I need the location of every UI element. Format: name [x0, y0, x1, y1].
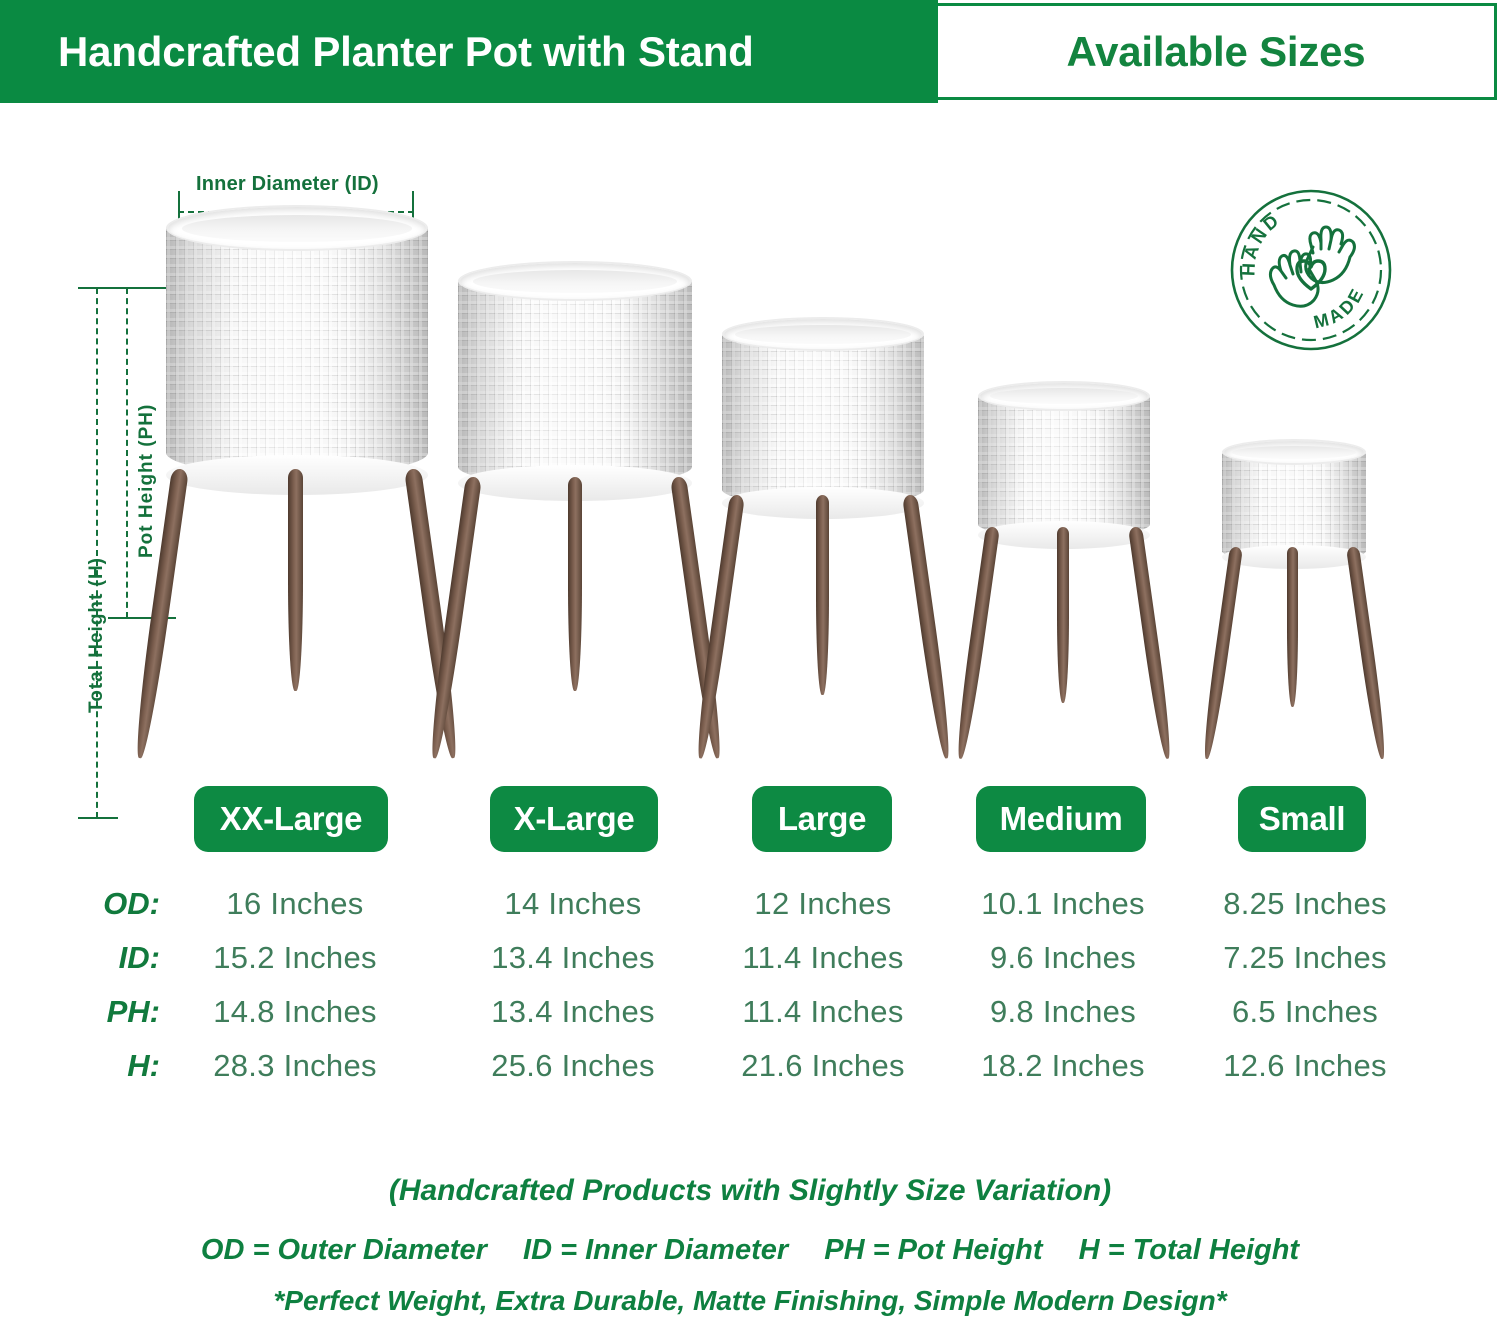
cell-ph-large: 11.4 Inches [718, 994, 928, 1030]
cell-ph-medium: 9.8 Inches [958, 994, 1168, 1030]
pot-rim [458, 261, 692, 301]
infographic-page: Handcrafted Planter Pot with Stand Avail… [0, 0, 1500, 1328]
legend-od: OD = Outer Diameter [187, 1234, 501, 1266]
stand-leg [1200, 546, 1243, 760]
pot-rim [1222, 439, 1366, 465]
total-height-label: Total Height (H) [86, 557, 108, 713]
table-row: OD: 16 Inches 14 Inches 12 Inches 10.1 I… [0, 886, 1500, 940]
size-pill-label: Large [778, 800, 866, 838]
cell-h-large: 21.6 Inches [718, 1048, 928, 1084]
pot-shading [458, 279, 692, 485]
dimensions-table: OD: 16 Inches 14 Inches 12 Inches 10.1 I… [0, 886, 1500, 1102]
table-row: PH: 14.8 Inches 13.4 Inches 11.4 Inches … [0, 994, 1500, 1048]
size-pill-label: Medium [1000, 800, 1123, 838]
header-subtitle: Available Sizes [1067, 28, 1366, 76]
cell-od-large: 12 Inches [718, 886, 928, 922]
cell-id-large: 11.4 Inches [718, 940, 928, 976]
legend-ph: PH = Pot Height [810, 1234, 1056, 1266]
stand-leg [816, 495, 829, 695]
cell-id-xx-large: 15.2 Inches [190, 940, 400, 976]
size-pill-xx-large[interactable]: XX-Large [194, 786, 388, 852]
row-label-id: ID: [0, 940, 160, 976]
size-pill-row: XX-Large X-Large Large Medium Small [0, 786, 1500, 862]
pot-body [166, 225, 428, 475]
cell-od-xx-large: 16 Inches [190, 886, 400, 922]
pot-shading [978, 395, 1150, 537]
row-label-h: H: [0, 1048, 160, 1084]
cell-h-x-large: 25.6 Inches [468, 1048, 678, 1084]
page-title: Handcrafted Planter Pot with Stand [58, 28, 754, 76]
pot-body [722, 333, 924, 505]
header-subtitle-band: Available Sizes [938, 3, 1497, 100]
cell-ph-small: 6.5 Inches [1196, 994, 1414, 1030]
planter-medium [978, 143, 1150, 775]
page-header: Handcrafted Planter Pot with Stand Avail… [0, 0, 1500, 103]
pot-rim [978, 381, 1150, 411]
pot-inner [473, 270, 677, 293]
stand-leg [288, 469, 303, 691]
cell-od-small: 8.25 Inches [1196, 886, 1414, 922]
row-label-od: OD: [0, 886, 160, 922]
size-pill-label: X-Large [514, 800, 635, 838]
pot-rim [166, 205, 428, 251]
planter-x-large [458, 143, 692, 775]
cell-id-x-large: 13.4 Inches [468, 940, 678, 976]
cell-h-xx-large: 28.3 Inches [190, 1048, 400, 1084]
cell-od-x-large: 14 Inches [468, 886, 678, 922]
cell-id-medium: 9.6 Inches [958, 940, 1168, 976]
cell-h-small: 12.6 Inches [1196, 1048, 1414, 1084]
cell-ph-xx-large: 14.8 Inches [190, 994, 400, 1030]
pot-inner [990, 388, 1138, 404]
size-pill-x-large[interactable]: X-Large [490, 786, 658, 852]
pot-height-label: Pot Height (PH) [136, 404, 158, 558]
header-title-band: Handcrafted Planter Pot with Stand [0, 0, 938, 103]
pot-shading [166, 225, 428, 475]
table-row: ID: 15.2 Inches 13.4 Inches 11.4 Inches … [0, 940, 1500, 994]
table-row: H: 28.3 Inches 25.6 Inches 21.6 Inches 1… [0, 1048, 1500, 1102]
pot-inner [735, 325, 911, 344]
pot-shading [722, 333, 924, 505]
size-pill-medium[interactable]: Medium [976, 786, 1146, 852]
cell-ph-x-large: 13.4 Inches [468, 994, 678, 1030]
size-pill-label: Small [1259, 800, 1346, 838]
pot-height-dimension-line [126, 288, 128, 618]
planter-diagram: Inner Diameter (ID) Outer Diameter (OD) … [0, 103, 1500, 775]
stand-leg [1287, 547, 1298, 707]
cell-id-small: 7.25 Inches [1196, 940, 1414, 976]
pot-body [458, 279, 692, 485]
cell-h-medium: 18.2 Inches [958, 1048, 1168, 1084]
pot-rim [722, 317, 924, 351]
legend-h: H = Total Height [1065, 1234, 1313, 1266]
stand-leg [1128, 526, 1174, 760]
features-note: *Perfect Weight, Extra Durable, Matte Fi… [0, 1285, 1500, 1317]
variation-note: (Handcrafted Products with Slightly Size… [0, 1174, 1500, 1208]
size-pill-small[interactable]: Small [1238, 786, 1366, 852]
pot-body [978, 395, 1150, 537]
dimension-tick [78, 287, 118, 289]
pot-inner [182, 215, 412, 242]
legend-id: ID = Inner Diameter [509, 1234, 802, 1266]
stand-leg [568, 477, 582, 691]
stand-leg [954, 526, 1000, 760]
planter-large [722, 143, 924, 775]
legend-row: OD = Outer Diameter ID = Inner Diameter … [0, 1234, 1500, 1267]
size-pill-label: XX-Large [220, 800, 362, 838]
planter-xx-large [166, 143, 428, 775]
planter-small [1222, 143, 1366, 775]
size-pill-large[interactable]: Large [752, 786, 892, 852]
stand-leg [1346, 546, 1389, 760]
row-label-ph: PH: [0, 994, 160, 1030]
stand-leg [902, 494, 954, 759]
total-height-dimension-line [96, 288, 98, 818]
stand-leg [1057, 527, 1069, 703]
pot-inner [1232, 446, 1356, 459]
cell-od-medium: 10.1 Inches [958, 886, 1168, 922]
